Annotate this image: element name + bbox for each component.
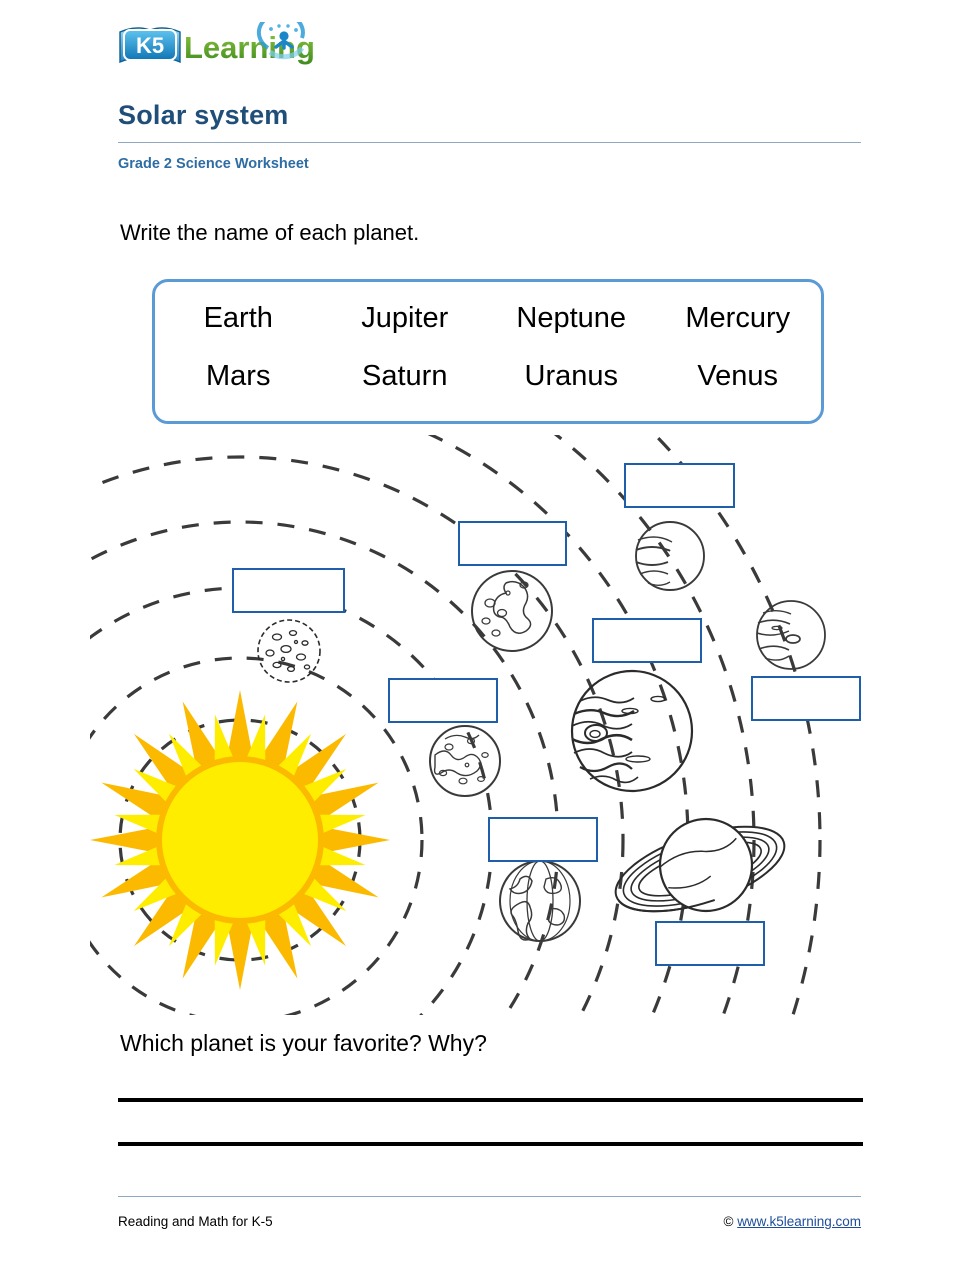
- sun-core-inner: [162, 762, 318, 918]
- word-bank-word: Jupiter: [322, 302, 489, 335]
- word-bank-word: Uranus: [488, 360, 655, 393]
- answer-box-venus[interactable]: [458, 521, 567, 566]
- worksheet-page: K5 Learning Solar system Grade 2 Science…: [0, 0, 979, 1266]
- answer-box-jupiter[interactable]: [592, 618, 702, 663]
- answer-box-earth[interactable]: [488, 817, 598, 862]
- planet-mars-icon: [430, 726, 500, 796]
- word-bank-row: Earth Jupiter Neptune Mercury: [155, 302, 821, 335]
- word-bank-word: Venus: [655, 360, 822, 393]
- word-bank: Earth Jupiter Neptune Mercury Mars Satur…: [152, 279, 824, 424]
- writing-line[interactable]: [118, 1142, 863, 1146]
- page-title: Solar system: [118, 100, 289, 131]
- footer-copyright: © www.k5learning.com: [723, 1214, 861, 1229]
- neptune-dark-spot: [786, 635, 800, 643]
- reflection-question: Which planet is your favorite? Why?: [120, 1030, 487, 1057]
- planet-earth-icon: [500, 861, 580, 941]
- word-bank-word: Earth: [155, 302, 322, 335]
- copyright-symbol: ©: [723, 1214, 733, 1229]
- instruction-text: Write the name of each planet.: [120, 220, 419, 246]
- k5-learning-logo: K5 Learning: [118, 22, 338, 74]
- page-subtitle: Grade 2 Science Worksheet: [118, 156, 309, 172]
- answer-box-mercury[interactable]: [232, 568, 345, 613]
- answer-box-mars[interactable]: [388, 678, 498, 723]
- svg-text:K5: K5: [136, 33, 164, 58]
- word-bank-word: Mercury: [655, 302, 822, 335]
- k5learning-link[interactable]: www.k5learning.com: [737, 1214, 861, 1229]
- planet-uranus-icon: [636, 522, 704, 590]
- answer-box-uranus[interactable]: [624, 463, 735, 508]
- footer-divider: [118, 1196, 861, 1197]
- answer-box-neptune[interactable]: [751, 676, 861, 721]
- logo-book-icon: K5: [120, 28, 180, 62]
- word-bank-word: Neptune: [488, 302, 655, 335]
- footer-tagline: Reading and Math for K-5: [118, 1214, 273, 1229]
- sun-icon: [90, 690, 390, 990]
- answer-box-saturn[interactable]: [655, 921, 765, 966]
- word-bank-row: Mars Saturn Uranus Venus: [155, 360, 821, 393]
- planet-mercury-icon: [258, 620, 320, 682]
- word-bank-word: Saturn: [322, 360, 489, 393]
- writing-line[interactable]: [118, 1098, 863, 1102]
- planet-venus-icon: [472, 571, 552, 651]
- logo-wordmark: Learning: [184, 30, 315, 65]
- title-divider: [118, 142, 861, 143]
- great-red-spot: [585, 725, 607, 741]
- planet-saturn-icon: [606, 809, 794, 928]
- word-bank-word: Mars: [155, 360, 322, 393]
